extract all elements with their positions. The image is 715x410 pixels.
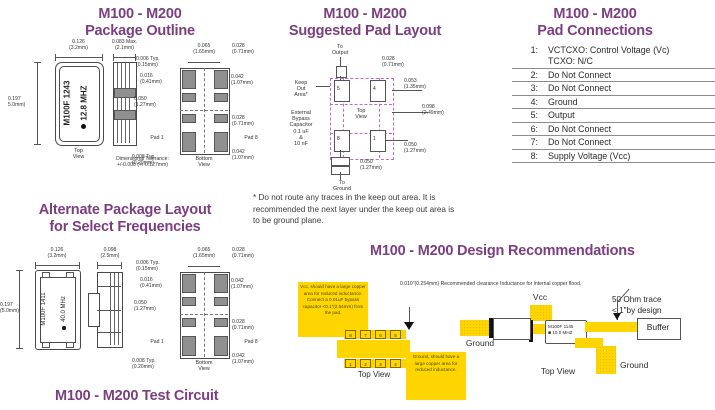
pad-connection-num: 6: <box>512 122 548 136</box>
alt-padw-dim: 0.028 (0.71mm) <box>232 248 254 259</box>
to-output-l2: Output <box>320 50 360 56</box>
package-rowpitch-dim: 0.050 (1.27mm) <box>134 97 156 108</box>
package-pad-pitch-mm: (1.65mm) <box>176 50 232 56</box>
table-row: 1: VCTCXO: Control Voltage (Vc) <box>512 44 715 55</box>
alt-midpad-mm: (0.41mm) <box>140 284 162 290</box>
pad-layout-pad-8-num: 8 <box>337 136 340 142</box>
pad-layout-pad-1-num: 1 <box>373 136 376 142</box>
pad-connection-desc: Do Not Connect <box>548 68 715 82</box>
alt-padh-mm: (1.07mm) <box>231 285 253 291</box>
pad-layout-padw-dim: 0.028 (0.71mm) <box>382 57 404 68</box>
clearance-arrow-icon <box>404 322 414 330</box>
pad-layout-span-dim: 0.098 (2.49mm) <box>422 105 444 116</box>
ground-label-left: Ground <box>455 338 505 348</box>
alternate-package-title: Alternate Package Layout for Select Freq… <box>25 202 225 236</box>
pl-top-view-l2: View <box>345 114 377 120</box>
alt-thickness-dim: 0.098 (2.5mm) <box>89 248 131 259</box>
pad-layout-to-ground: To Ground <box>322 180 362 192</box>
design-copper-flood <box>337 340 410 358</box>
package-part-marking-line2: 12.8 MHZ <box>80 85 89 120</box>
pad-connection-num: 1: <box>512 44 548 55</box>
pad-connections-title-line2: Pad Connections <box>505 23 685 40</box>
bypass-cap-1 <box>331 157 350 166</box>
pad-connection-num: 8: <box>512 149 548 163</box>
vcc-copper-note: Vcc, should have a large copper area for… <box>298 282 368 337</box>
pad-layout-note: * Do not route any traces in the keep ou… <box>253 192 461 227</box>
package-outline-title-line1: M100 - M200 <box>60 6 220 23</box>
package-typ-top-mm: (0.15mm) <box>136 63 160 69</box>
osc-part-marking: M100F 1145 ■ 10.0 MHZ <box>548 324 573 336</box>
package-botpad-dim: 0.042 (1.07mm) <box>232 150 254 161</box>
alt-bottom-pad-7 <box>182 297 196 306</box>
alt-typ-bot-dim: 0.008 Typ. (0.20mm) <box>132 359 156 370</box>
vcc-label: Vcc <box>520 292 560 302</box>
pad-connection-desc: Do Not Connect <box>548 122 715 136</box>
package-pad1-label: Pad 1 <box>142 136 172 142</box>
alt-bottom-pad-6 <box>182 318 196 327</box>
package-pad-pitch-dim: 0.065 (1.65mm) <box>176 44 232 55</box>
bypass-l6: 10 nF <box>278 141 324 147</box>
trace-to-buffer <box>585 322 638 332</box>
pad-layout-pad-5-num: 5 <box>337 86 340 92</box>
pad-layout-top-view: Top View <box>345 108 377 120</box>
design-top-view-right-label: Top View <box>528 366 588 376</box>
package-pad8-label: Pad 8 <box>236 136 266 142</box>
package-width-dim: 0.126 (3.2mm) <box>55 40 102 51</box>
package-padh-dim: 0.042 (1.07mm) <box>231 75 253 86</box>
design-pin-3: 3 <box>375 359 386 368</box>
package-bottom-pad-2 <box>214 132 228 152</box>
keep-out-l3: Area* <box>281 92 321 98</box>
alt-typ-bot-mm: (0.20mm) <box>132 365 156 371</box>
package-outline-title: M100 - M200 Package Outline <box>60 6 220 40</box>
package-padh-mm: (1.07mm) <box>231 81 253 87</box>
package-typ-bot-dim: 0.008 Typ. (0.20mm) <box>132 155 156 166</box>
alt-thick-mm: (2.5mm) <box>89 254 131 260</box>
pad-connection-desc-2: TCXO: N/C <box>548 55 715 68</box>
alt-bottom-view-l2: View <box>180 366 228 372</box>
pad-connections-title: M100 - M200 Pad Connections <box>505 6 685 40</box>
table-row: 3: Do Not Connect <box>512 82 715 96</box>
alt-bottom-pad-3 <box>214 318 228 327</box>
pad-layout-pad-4-num: 4 <box>373 86 376 92</box>
osc-part-marking-l2: ■ 10.0 MHZ <box>548 330 573 337</box>
package-bottom-pad-1 <box>182 132 196 152</box>
package-midpad-dim: 0.016 (0.41mm) <box>140 74 162 85</box>
pl-padw-mm: (0.71mm) <box>382 63 404 69</box>
design-pin-2: 2 <box>360 359 371 368</box>
pl-pitchb-mm: (1.27mm) <box>360 166 382 172</box>
oscillator-body-left <box>493 318 531 340</box>
package-midpadw-mm: (0.71mm) <box>232 122 254 128</box>
table-row: 7: Do Not Connect <box>512 136 715 150</box>
package-bottom-view-label: Bottom View <box>180 156 228 168</box>
pad-connection-num: 2: <box>512 68 548 82</box>
package-part-marking: M100F 1243 12.8 MHZ <box>62 70 96 136</box>
pad-connection-num: 5: <box>512 109 548 123</box>
pad-layout-keep-out-label: Keep Out Area* <box>281 80 321 99</box>
test-circuit-title: M100 - M200 Test Circuit <box>55 388 275 405</box>
package-side-pad-top <box>114 88 136 98</box>
package-midpadw-dim: 0.028 (0.71mm) <box>232 116 254 127</box>
output-trace-stub <box>336 66 347 78</box>
design-pin-4: 4 <box>390 359 401 368</box>
pad-connection-num: 4: <box>512 95 548 109</box>
alt-midpadw-mm: (0.71mm) <box>232 326 254 332</box>
pad-connection-desc: Output <box>548 109 715 123</box>
package-rowpitch-mm: (1.27mm) <box>134 103 156 109</box>
package-typ-top-dim: 0.006 Typ. (0.15mm) <box>136 57 160 68</box>
design-pin-1: 1 <box>345 359 356 368</box>
alt-package-corner-bl <box>42 342 50 348</box>
package-bottom-pad-4 <box>214 93 228 102</box>
alt-midpad-dim: 0.016 (0.41mm) <box>140 278 162 289</box>
pl-pitchr-mm: (1.27mm) <box>404 149 426 155</box>
package-bottom-pad-8 <box>182 70 196 89</box>
design-pin-5: 5 <box>390 330 401 339</box>
alt-width-mm: (3.2mm) <box>33 254 81 260</box>
buffer-label: Buffer <box>637 322 679 332</box>
pad-layout-title-line2: Suggested Pad Layout <box>275 23 455 40</box>
table-row: TCXO: N/C <box>512 55 715 68</box>
alt-padh-dim: 0.042 (1.07mm) <box>231 279 253 290</box>
trace-note-l2: < 1"by design <box>612 305 712 316</box>
table-row: 6: Do Not Connect <box>512 122 715 136</box>
ground-copper-note: Ground, should have a large copper area … <box>406 352 466 400</box>
pad-layout-to-output: To Output <box>320 44 360 56</box>
alt-padw-mm: (0.71mm) <box>232 254 254 260</box>
package-bottom-pad-6 <box>182 114 196 123</box>
package-height-dim: 0.197 5.0mm) <box>8 97 36 108</box>
alt-botpad-dim: 0.042 (1.07mm) <box>232 354 254 365</box>
package-marking-dot <box>81 124 86 129</box>
package-bottom-pad-7 <box>182 93 196 102</box>
pad-connections-table: 1: VCTCXO: Control Voltage (Vc) TCXO: N/… <box>512 44 715 163</box>
pad-layout-title-line1: M100 - M200 <box>275 6 455 23</box>
alt-bottom-view-label: Bottom View <box>180 360 228 372</box>
pad-connection-desc: VCTCXO: Control Voltage (Vc) <box>548 44 715 55</box>
table-row: 5: Output <box>512 109 715 123</box>
alt-pad1-label: Pad 1 <box>142 340 172 346</box>
alt-rowpitch-mm: (1.27mm) <box>134 307 156 313</box>
package-thick-mm: (2.1mm) <box>102 46 147 52</box>
alt-pad-pitch-dim: 0.065 (1.65mm) <box>176 248 232 259</box>
pad-connection-desc: Do Not Connect <box>548 82 715 96</box>
alt-pad-pitch-mm: (1.65mm) <box>176 254 232 260</box>
alt-typ-top-mm: (0.15mm) <box>136 267 160 273</box>
pad-layout-bypass-label: External Bypass Capacitor 0.1 uF & 10 nF <box>278 110 324 147</box>
design-pin-8: 8 <box>345 330 356 339</box>
alternate-package-title-line2: for Select Frequencies <box>25 219 225 236</box>
pad-connections-title-line1: M100 - M200 <box>505 6 685 23</box>
ground-pad-right <box>596 346 616 374</box>
package-bottom-view-label-l2: View <box>180 162 228 168</box>
design-pin-6: 6 <box>375 330 386 339</box>
package-height-mm: 5.0mm) <box>8 103 36 109</box>
alt-height-mm: (5.0mm) <box>0 309 22 315</box>
trace-arrow-icon <box>613 313 621 320</box>
package-outline-title-line2: Package Outline <box>60 23 220 40</box>
clearance-note: 0.010"(0.254mm) Recommended clearance In… <box>400 281 478 288</box>
alt-bottom-pad-4 <box>214 297 228 306</box>
package-part-marking-line1: M100F 1243 <box>63 81 72 126</box>
alt-rowpitch-dim: 0.050 (1.27mm) <box>134 301 156 312</box>
table-row: 4: Ground <box>512 95 715 109</box>
package-bottom-pad-5 <box>214 70 228 89</box>
pad-layout-title: M100 - M200 Suggested Pad Layout <box>275 6 455 40</box>
pad-connection-desc: Ground <box>548 95 715 109</box>
design-recommendations-title: M100 - M200 Design Recommendations <box>370 243 670 260</box>
package-padw-dim: 0.028 (0.71mm) <box>232 44 254 55</box>
alt-botpad-mm: (1.07mm) <box>232 360 254 366</box>
pad-connections-table-wrap: 1: VCTCXO: Control Voltage (Vc) TCXO: N/… <box>512 44 712 163</box>
trace-note: 50 Ohm trace < 1"by design <box>612 294 712 316</box>
package-padw-mm: (0.71mm) <box>232 50 254 56</box>
pad-layout-padh-dim: 0.053 (1.35mm) <box>404 79 426 90</box>
alt-bottom-pad-8 <box>182 274 196 293</box>
ground-label-right: Ground <box>620 360 670 370</box>
package-bottom-pad-3 <box>214 114 228 123</box>
package-midpad-mm: (0.41mm) <box>140 80 162 86</box>
package-thickness-dim: 0.083 Max. (2.1mm) <box>102 40 147 51</box>
package-width-mm: (3.2mm) <box>55 46 102 52</box>
alt-marking-dot <box>62 326 66 330</box>
package-botpad-mm: (1.07mm) <box>232 156 254 162</box>
ground-pad-left <box>460 320 490 336</box>
alt-package-corner-br <box>66 342 74 348</box>
alternate-package-title-line1: Alternate Package Layout <box>25 202 225 219</box>
pad-connection-num: 7: <box>512 136 548 150</box>
pad-connection-desc: Supply Voltage (Vcc) <box>548 149 715 163</box>
alt-typ-top-dim: 0.006 Typ. (0.15mm) <box>136 261 160 272</box>
alt-midpadw-dim: 0.028 (0.71mm) <box>232 320 254 331</box>
pad-connection-num: 3: <box>512 82 548 96</box>
vcc-pad <box>530 305 552 321</box>
alt-height-dim: 0.197 (5.0mm) <box>0 303 22 314</box>
pad-connection-desc: Do Not Connect <box>548 136 715 150</box>
package-typ-bot-mm: (0.20mm) <box>132 161 156 167</box>
alt-part-marking-line1: M100F 1411 <box>41 292 47 325</box>
pad-layout-pitch-bottom-dim: 0.050 (1.27mm) <box>360 160 382 171</box>
alt-pad8-label: Pad 8 <box>236 340 266 346</box>
table-row: 2: Do Not Connect <box>512 68 715 82</box>
pad-layout-pitch-right-dim: 0.050 (1.27mm) <box>404 143 426 154</box>
package-side-pad-bot <box>114 110 136 120</box>
alt-part-marking-line2: 40.0 MHz <box>61 296 67 322</box>
table-row: 8: Supply Voltage (Vcc) <box>512 149 715 163</box>
alt-bottom-pad-2 <box>214 336 228 356</box>
alt-package-corner-tl <box>42 272 50 278</box>
alt-bottom-pad-1 <box>182 336 196 356</box>
alt-width-dim: 0.126 (3.2mm) <box>33 248 81 259</box>
alt-bottom-pad-5 <box>214 274 228 293</box>
trace-note-l1: 50 Ohm trace <box>612 294 712 305</box>
design-top-view-left-label: Top View <box>344 370 404 379</box>
alt-package-corner-tr <box>66 272 74 278</box>
design-pin-7: 7 <box>360 330 371 339</box>
osc-freq: 10.0 MHZ <box>552 330 572 335</box>
